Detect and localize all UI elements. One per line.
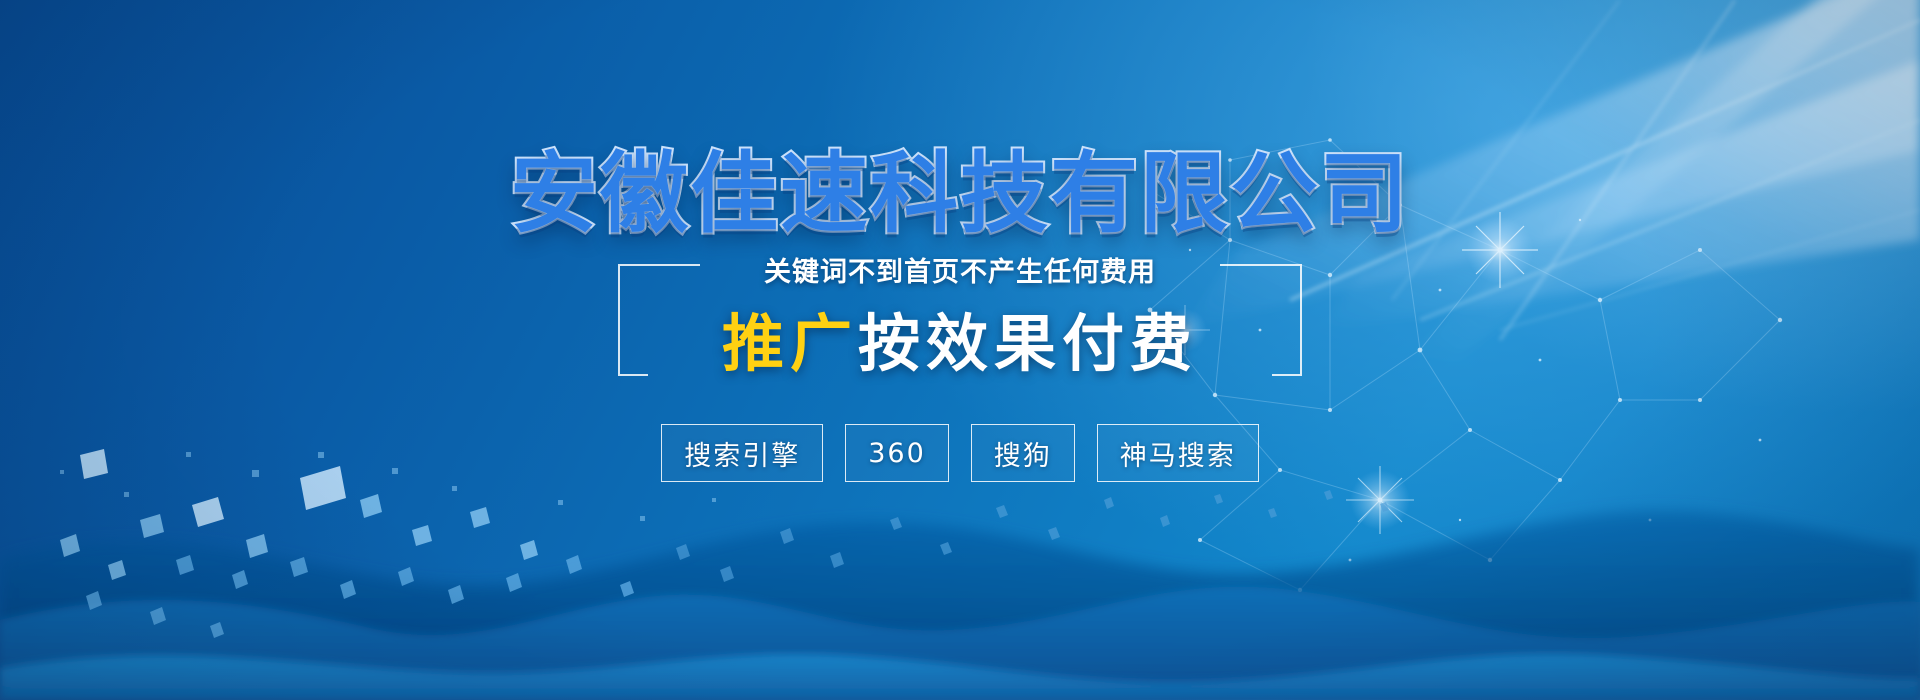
slogan-headline-rest: 按效果付费 (858, 307, 1198, 380)
engine-button-label: 搜狗 (994, 434, 1052, 473)
bracket-left-decoration (618, 264, 648, 376)
promo-banner: 安徽佳速科技有限公司 关键词不到首页不产生任何费用 推广按效果付费 搜索引擎 3… (0, 0, 1920, 700)
engine-button-shenma[interactable]: 神马搜索 (1097, 424, 1259, 482)
bracket-right-decoration (1272, 264, 1302, 376)
engine-button-label: 搜索引擎 (684, 434, 800, 473)
engine-button-sogou[interactable]: 搜狗 (971, 424, 1075, 482)
engine-button-360[interactable]: 360 (845, 424, 949, 482)
search-engine-button-group: 搜索引擎 360 搜狗 神马搜索 (661, 424, 1259, 482)
slogan-bracket-block: 关键词不到首页不产生任何费用 推广按效果付费 (672, 264, 1248, 376)
engine-button-label: 360 (868, 438, 926, 469)
slogan-headline-accent: 推广 (722, 307, 858, 380)
engine-button-label: 神马搜索 (1120, 434, 1236, 473)
company-title: 安徽佳速科技有限公司 (510, 150, 1410, 238)
slogan-headline: 推广按效果付费 (672, 311, 1248, 378)
engine-button-search-engine[interactable]: 搜索引擎 (661, 424, 823, 482)
banner-content: 安徽佳速科技有限公司 关键词不到首页不产生任何费用 推广按效果付费 搜索引擎 3… (0, 150, 1920, 482)
slogan-subtitle: 关键词不到首页不产生任何费用 (672, 250, 1248, 289)
